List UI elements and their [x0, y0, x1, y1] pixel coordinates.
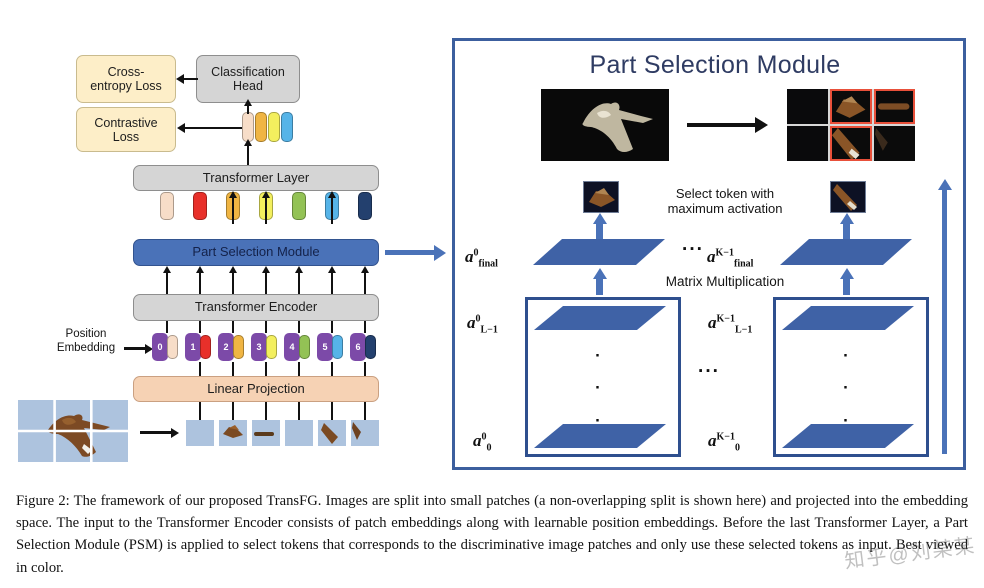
arrow-to-thumb-left-tip	[593, 213, 607, 224]
a-final-0-base: a	[465, 247, 474, 266]
a-L1-k-label: aK−1L−1	[708, 313, 752, 335]
bird-body-patch-icon	[318, 420, 346, 446]
a-0-k-label: aK−10	[708, 431, 740, 453]
selected-bird-head-icon	[830, 89, 871, 124]
patch-tile-3	[285, 420, 313, 446]
patch-tile-2	[252, 420, 280, 446]
left-stack-vertical-dots: ···	[588, 340, 608, 437]
a-0-k-sub: 0	[735, 442, 740, 453]
patch-tile-0	[186, 420, 214, 446]
arrow-map-to-grid-line	[687, 123, 757, 127]
patch-sequence	[186, 420, 386, 446]
bird-input-image	[18, 400, 128, 462]
a-L1-k-base: a	[708, 313, 717, 332]
a-L1-0-sub: L−1	[481, 324, 498, 335]
panel-feedback-arrow-tip	[938, 179, 952, 190]
selected-token-thumb-left	[583, 181, 619, 213]
a-L1-k-sup: K−1	[717, 313, 735, 324]
patch-tile-1	[219, 420, 247, 446]
selected-bird-body-icon	[830, 126, 871, 161]
patch-tile-4	[318, 420, 346, 446]
a-L1-0-slab	[534, 306, 666, 330]
bird-tail-patch-icon	[351, 420, 379, 446]
a-L1-k-sub: L−1	[735, 324, 752, 335]
a-final-k-slab	[780, 239, 912, 265]
patch-tile-5	[351, 420, 379, 446]
stack-column-ellipsis: ···	[698, 361, 720, 383]
a-0-k-slab	[782, 424, 914, 448]
figure-canvas: Cross- entropy Loss Classification Head …	[0, 0, 984, 480]
a-final-k-label: aK−1final	[707, 247, 753, 269]
a-0-0-sup: 0	[482, 431, 487, 442]
attention-map-image	[541, 89, 669, 161]
a-0-k-base: a	[708, 431, 717, 450]
a-0-0-label: a00	[473, 431, 492, 453]
thumb-bird-body-icon	[831, 182, 865, 212]
grid-cell-3	[787, 126, 828, 161]
a-L1-0-label: a0L−1	[467, 313, 498, 335]
attention-stack-right: ···	[773, 297, 929, 457]
a-final-0-label: a0final	[465, 247, 498, 269]
panel-feedback-arrow-line	[942, 189, 947, 454]
part-selection-module-panel: Part Selection Module	[452, 38, 966, 470]
arrow-image-to-patches-line	[140, 431, 172, 434]
bird-tail-faint-icon	[874, 126, 915, 161]
arrow-image-to-patches-tip	[171, 428, 179, 438]
patch-riser-3	[298, 402, 300, 420]
grid-cell-5	[874, 126, 915, 161]
a-final-k-base: a	[707, 247, 716, 266]
grid-cell-2-selected	[874, 89, 915, 124]
a-L1-0-sup: 0	[476, 313, 481, 324]
a-L1-0-base: a	[467, 313, 476, 332]
caption-text: Figure 2: The framework of our proposed …	[16, 490, 968, 579]
top-column-ellipsis: ···	[682, 239, 704, 261]
selected-token-thumb-right	[830, 181, 866, 213]
a-0-0-sub: 0	[487, 442, 492, 453]
patch-riser-5	[364, 402, 366, 420]
a-final-k-sup: K−1	[716, 247, 734, 258]
grid-cell-4-selected	[830, 126, 871, 161]
a-final-0-sup: 0	[474, 247, 479, 258]
bird-head-patch-icon	[219, 420, 247, 446]
selected-bird-wing-icon	[874, 89, 915, 124]
selected-patch-grid	[787, 89, 915, 161]
a-L1-k-slab	[782, 306, 914, 330]
matmul-arrow-right-tip	[840, 268, 854, 279]
select-token-caption: Select token with maximum activation	[625, 187, 825, 217]
patch-riser-4	[331, 402, 333, 420]
a-final-k-sub: final	[734, 258, 753, 269]
arrow-map-to-grid-tip	[755, 117, 768, 133]
patch-riser-0	[199, 402, 201, 420]
attention-heatmap	[541, 89, 669, 161]
grid-cell-0	[787, 89, 828, 124]
patch-riser-2	[265, 402, 267, 420]
psm-panel-title: Part Selection Module	[525, 51, 905, 80]
matrix-multiplication-label: Matrix Multiplication	[610, 274, 840, 290]
matmul-arrow-left-tip	[593, 268, 607, 279]
a-0-0-slab	[534, 424, 666, 448]
attention-stack-left: ···	[525, 297, 681, 457]
thumb-bird-head-icon	[584, 182, 618, 212]
matmul-arrow-left-line	[596, 277, 603, 295]
arrow-to-thumb-right-tip	[840, 213, 854, 224]
a-final-0-sub: final	[479, 258, 498, 269]
figure-caption: Figure 2: The framework of our proposed …	[0, 484, 984, 588]
a-0-0-base: a	[473, 431, 482, 450]
a-final-0-slab	[533, 239, 665, 265]
matmul-arrow-right-line	[843, 277, 850, 295]
right-stack-vertical-dots: ···	[836, 340, 856, 437]
grid-cell-1-selected	[830, 89, 871, 124]
patch-riser-1	[232, 402, 234, 420]
input-image	[18, 400, 128, 462]
bird-wingtip-patch-icon	[252, 420, 280, 446]
a-0-k-sup: K−1	[717, 431, 735, 442]
